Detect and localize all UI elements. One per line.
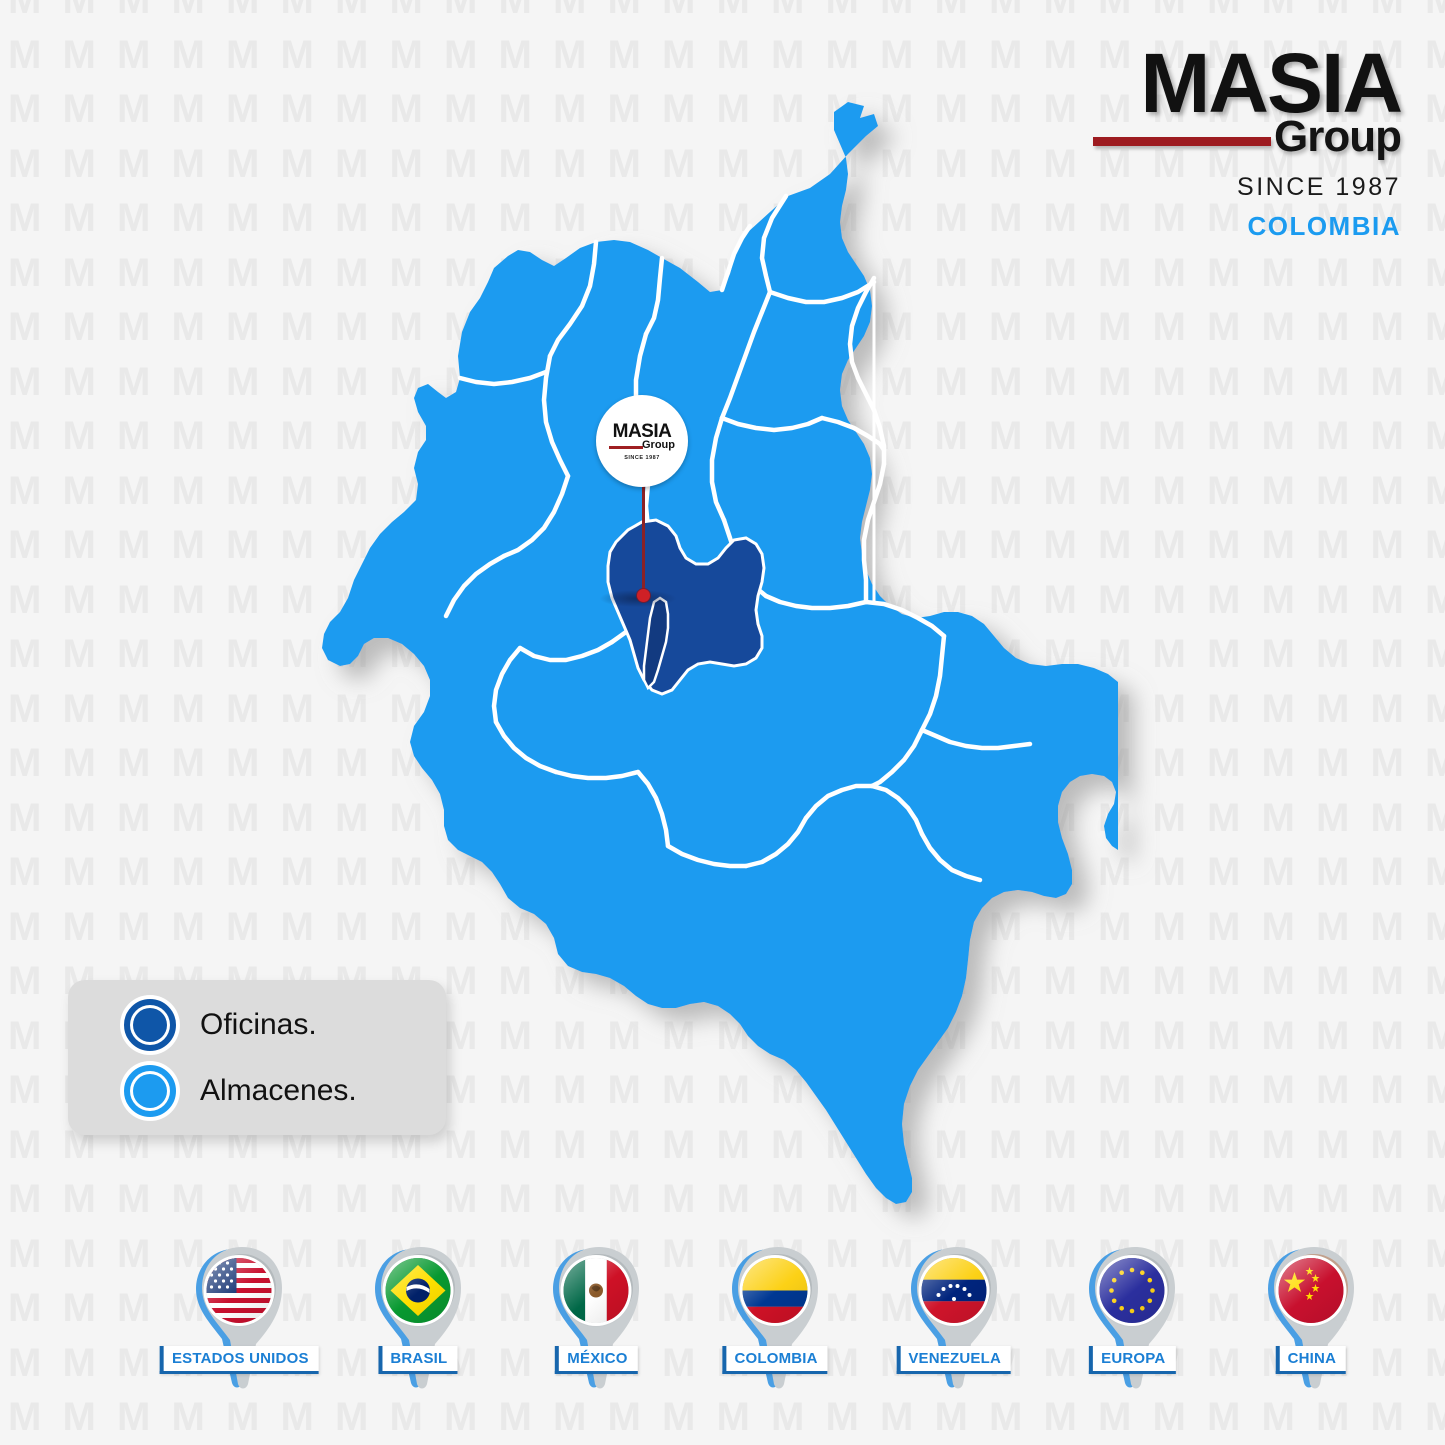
watermark-letter: M <box>1316 307 1349 347</box>
capital-marker-dot <box>637 589 650 602</box>
watermark-letter: M <box>1425 852 1445 892</box>
watermark-letter: M <box>1425 1234 1445 1274</box>
watermark-letter: M <box>1371 307 1404 347</box>
watermark-letter: M <box>1207 743 1240 783</box>
watermark-letter: M <box>1262 907 1295 947</box>
masia-group-logo: MASIA Group SINCE 1987 COLOMBIA <box>1071 44 1401 242</box>
watermark-letter: M <box>335 0 368 20</box>
logo-group-row: Group <box>1071 119 1401 167</box>
watermark-letter: M <box>717 35 750 75</box>
watermark-letter: M <box>1316 1125 1349 1165</box>
watermark-letter: M <box>1207 416 1240 456</box>
watermark-letter: M <box>172 852 205 892</box>
watermark-letter: M <box>1207 307 1240 347</box>
watermark-letter: M <box>1262 798 1295 838</box>
legend-label-oficinas: Oficinas. <box>200 1008 317 1042</box>
watermark-letter: M <box>63 634 96 674</box>
watermark-letter: M <box>226 1179 259 1219</box>
watermark-letter: M <box>1207 852 1240 892</box>
watermark-letter: M <box>63 416 96 456</box>
watermark-letter: M <box>117 416 150 456</box>
watermark-letter: M <box>1316 907 1349 947</box>
watermark-letter: M <box>117 525 150 565</box>
watermark-letter: M <box>117 35 150 75</box>
watermark-letter: M <box>281 471 314 511</box>
watermark-letter: M <box>117 743 150 783</box>
watermark-letter: M <box>281 307 314 347</box>
watermark-letter: M <box>63 144 96 184</box>
watermark-letter: M <box>226 253 259 293</box>
watermark-letter: M <box>117 1397 150 1437</box>
watermark-letter: M <box>1316 525 1349 565</box>
watermark-letter: M <box>226 689 259 729</box>
watermark-letter: M <box>1153 525 1186 565</box>
watermark-letter: M <box>1371 961 1404 1001</box>
watermark-letter: M <box>117 253 150 293</box>
watermark-letter: M <box>117 89 150 129</box>
watermark-letter: M <box>172 307 205 347</box>
watermark-letter: M <box>1153 634 1186 674</box>
pin-label-brasil: BRASIL <box>378 1346 457 1374</box>
watermark-letter: M <box>662 35 695 75</box>
country-pin-europa[interactable]: EUROPA <box>1043 1243 1222 1418</box>
watermark-letter: M <box>1153 253 1186 293</box>
watermark-letter: M <box>1153 907 1186 947</box>
watermark-letter: M <box>1371 525 1404 565</box>
watermark-letter: M <box>390 35 423 75</box>
watermark-letter: M <box>553 35 586 75</box>
callout-group-row: Group <box>609 442 675 452</box>
watermark-letter: M <box>1207 580 1240 620</box>
watermark-letter: M <box>1425 634 1445 674</box>
watermark-letter: M <box>1153 307 1186 347</box>
watermark-letter: M <box>226 743 259 783</box>
watermark-letter: M <box>335 35 368 75</box>
watermark-letter: M <box>8 198 41 238</box>
watermark-letter: M <box>608 0 641 20</box>
watermark-letter: M <box>63 1179 96 1219</box>
flag-mexico-icon <box>564 1258 629 1323</box>
watermark-letter: M <box>1425 525 1445 565</box>
watermark-letter: M <box>1371 1125 1404 1165</box>
watermark-letter: M <box>172 580 205 620</box>
watermark-letter: M <box>1425 35 1445 75</box>
pin-label-china: CHINA <box>1276 1346 1347 1374</box>
watermark-letter: M <box>1425 471 1445 511</box>
watermark-letter: M <box>1371 253 1404 293</box>
watermark-letter: M <box>8 1016 41 1056</box>
watermark-letter: M <box>172 634 205 674</box>
watermark-letter: M <box>1262 471 1295 511</box>
watermark-letter: M <box>1425 1016 1445 1056</box>
pin-label-europa: EUROPA <box>1089 1346 1175 1374</box>
watermark-letter: M <box>1371 634 1404 674</box>
watermark-letter: M <box>117 1179 150 1219</box>
watermark-letter: M <box>226 525 259 565</box>
watermark-letter: M <box>1153 580 1186 620</box>
watermark-letter: M <box>281 798 314 838</box>
watermark-letter: M <box>1316 689 1349 729</box>
watermark-letter: M <box>1316 362 1349 402</box>
country-pin-brasil[interactable]: BRASIL <box>329 1243 508 1418</box>
watermark-letter: M <box>1316 1016 1349 1056</box>
watermark-letter: M <box>8 525 41 565</box>
watermark-letter: M <box>1153 1125 1186 1165</box>
flag-venezuela-icon <box>921 1258 986 1323</box>
watermark-letter: M <box>1262 852 1295 892</box>
watermark-letter: M <box>1207 907 1240 947</box>
watermark-letter: M <box>1425 198 1445 238</box>
watermark-letter: M <box>1153 1179 1186 1219</box>
watermark-letter: M <box>1207 1179 1240 1219</box>
watermark-letter: M <box>1153 416 1186 456</box>
watermark-letter: M <box>172 198 205 238</box>
watermark-letter: M <box>1425 580 1445 620</box>
watermark-letter: M <box>8 961 41 1001</box>
watermark-letter: M <box>63 1343 96 1383</box>
watermark-letter: M <box>117 580 150 620</box>
watermark-letter: M <box>1262 307 1295 347</box>
watermark-letter: M <box>281 253 314 293</box>
pin-label-venezuela: VENEZUELA <box>896 1346 1011 1374</box>
watermark-letter: M <box>1207 1070 1240 1110</box>
watermark-letter: M <box>8 1397 41 1437</box>
watermark-letter: M <box>226 362 259 402</box>
watermark-letter: M <box>281 1179 314 1219</box>
watermark-letter: M <box>226 471 259 511</box>
watermark-letter: M <box>63 471 96 511</box>
pin-label-colombia: COLOMBIA <box>722 1346 827 1374</box>
watermark-letter: M <box>1371 1016 1404 1056</box>
watermark-letter: M <box>63 1397 96 1437</box>
watermark-letter: M <box>63 907 96 947</box>
logo-country-text: COLOMBIA <box>1071 211 1401 242</box>
watermark-letter: M <box>8 416 41 456</box>
watermark-letter: M <box>1153 1016 1186 1056</box>
watermark-letter: M <box>117 907 150 947</box>
watermark-letter: M <box>1207 634 1240 674</box>
watermark-letter: M <box>989 0 1022 20</box>
flag-colombia-icon <box>743 1258 808 1323</box>
map-legend: Oficinas. Almacenes. <box>68 980 446 1135</box>
watermark-letter: M <box>63 0 96 20</box>
watermark-letter: M <box>390 0 423 20</box>
flag-brazil-icon <box>385 1258 450 1323</box>
watermark-letter: M <box>281 416 314 456</box>
watermark-letter: M <box>226 144 259 184</box>
watermark-letter: M <box>1044 0 1077 20</box>
watermark-letter: M <box>117 1288 150 1328</box>
watermark-letter: M <box>63 743 96 783</box>
watermark-letter: M <box>1153 0 1186 20</box>
watermark-letter: M <box>172 743 205 783</box>
watermark-letter: M <box>281 362 314 402</box>
callout-red-bar <box>609 446 643 449</box>
legend-item-almacenes[interactable]: Almacenes. <box>68 1058 446 1124</box>
watermark-letter: M <box>1316 1070 1349 1110</box>
legend-marker-almacenes-icon <box>124 1065 176 1117</box>
flag-europe-icon <box>1100 1258 1165 1323</box>
watermark-letter: M <box>281 580 314 620</box>
legend-label-almacenes: Almacenes. <box>200 1074 357 1108</box>
watermark-letter: M <box>989 35 1022 75</box>
watermark-letter: M <box>172 253 205 293</box>
watermark-letter: M <box>1153 743 1186 783</box>
watermark-letter: M <box>172 0 205 20</box>
watermark-letter: M <box>8 634 41 674</box>
watermark-letter: M <box>880 0 913 20</box>
pin-label-mexico: MÉXICO <box>555 1346 637 1374</box>
watermark-letter: M <box>172 362 205 402</box>
watermark-letter: M <box>117 471 150 511</box>
watermark-letter: M <box>1425 307 1445 347</box>
watermark-letter: M <box>8 907 41 947</box>
watermark-letter: M <box>8 1343 41 1383</box>
watermark-letter: M <box>117 1343 150 1383</box>
watermark-letter: M <box>826 0 859 20</box>
watermark-letter: M <box>63 580 96 620</box>
watermark-letter: M <box>226 198 259 238</box>
watermark-letter: M <box>1207 961 1240 1001</box>
watermark-letter: M <box>8 1288 41 1328</box>
watermark-letter: M <box>63 253 96 293</box>
watermark-letter: M <box>1316 253 1349 293</box>
callout-masia-text: MASIA <box>613 422 672 441</box>
logo-red-bar <box>1093 137 1271 146</box>
callout-since-text: SINCE 1987 <box>624 455 660 461</box>
watermark-letter: M <box>281 634 314 674</box>
watermark-letter: M <box>117 634 150 674</box>
legend-item-oficinas[interactable]: Oficinas. <box>68 992 446 1058</box>
logo-since-text: SINCE 1987 <box>1071 173 1401 202</box>
watermark-letter: M <box>444 0 477 20</box>
watermark-letter: M <box>63 1288 96 1328</box>
watermark-letter: M <box>8 689 41 729</box>
watermark-letter: M <box>1371 689 1404 729</box>
watermark-letter: M <box>226 907 259 947</box>
watermark-letter: M <box>1207 362 1240 402</box>
watermark-letter: M <box>826 35 859 75</box>
watermark-letter: M <box>1425 1125 1445 1165</box>
watermark-letter: M <box>8 1179 41 1219</box>
watermark-letter: M <box>1425 907 1445 947</box>
watermark-letter: M <box>1425 89 1445 129</box>
watermark-letter: M <box>1425 689 1445 729</box>
watermark-letter: M <box>1425 1397 1445 1437</box>
watermark-letter: M <box>608 35 641 75</box>
watermark-letter: M <box>172 471 205 511</box>
watermark-letter: M <box>8 1234 41 1274</box>
watermark-letter: M <box>1207 0 1240 20</box>
watermark-letter: M <box>1262 1179 1295 1219</box>
watermark-letter: M <box>1316 743 1349 783</box>
watermark-letter: M <box>1316 416 1349 456</box>
watermark-letter: M <box>226 634 259 674</box>
watermark-letter: M <box>1371 362 1404 402</box>
watermark-letter: M <box>226 580 259 620</box>
watermark-letter: M <box>8 580 41 620</box>
watermark-letter: M <box>1207 1016 1240 1056</box>
watermark-letter: M <box>1371 743 1404 783</box>
watermark-letter: M <box>281 525 314 565</box>
watermark-letter: M <box>1425 798 1445 838</box>
watermark-letter: M <box>172 798 205 838</box>
watermark-letter: M <box>1262 1016 1295 1056</box>
country-pin-mexico[interactable]: MÉXICO <box>507 1243 686 1418</box>
callout-group-text: Group <box>642 440 675 451</box>
watermark-letter: M <box>172 525 205 565</box>
watermark-letter: M <box>1153 1070 1186 1110</box>
watermark-letter: M <box>1425 362 1445 402</box>
watermark-letter: M <box>8 89 41 129</box>
watermark-letter: M <box>1425 1179 1445 1219</box>
watermark-letter: M <box>63 689 96 729</box>
flag-usa-icon <box>207 1258 272 1323</box>
watermark-letter: M <box>1153 798 1186 838</box>
watermark-letter: M <box>1207 1125 1240 1165</box>
watermark-letter: M <box>1262 1125 1295 1165</box>
watermark-letter: M <box>1371 580 1404 620</box>
watermark-letter: M <box>117 852 150 892</box>
watermark-letter: M <box>63 798 96 838</box>
country-pin-china[interactable]: CHINA <box>1222 1243 1401 1418</box>
watermark-letter: M <box>8 852 41 892</box>
watermark-letter: M <box>1425 743 1445 783</box>
pin-label-estados-unidos: ESTADOS UNIDOS <box>160 1346 319 1374</box>
watermark-letter: M <box>1316 634 1349 674</box>
flag-china-icon <box>1278 1258 1343 1323</box>
watermark-letter: M <box>553 0 586 20</box>
watermark-letter: M <box>117 0 150 20</box>
watermark-letter: M <box>1425 416 1445 456</box>
watermark-letter: M <box>281 35 314 75</box>
watermark-letter: M <box>172 1179 205 1219</box>
watermark-letter: M <box>1262 743 1295 783</box>
watermark-letter: M <box>1207 689 1240 729</box>
watermark-letter: M <box>444 35 477 75</box>
watermark-letter: M <box>281 198 314 238</box>
watermark-letter: M <box>8 1125 41 1165</box>
watermark-letter: M <box>172 416 205 456</box>
watermark-letter: M <box>1153 471 1186 511</box>
watermark-letter: M <box>172 144 205 184</box>
watermark-letter: M <box>226 852 259 892</box>
watermark-letter: M <box>1207 471 1240 511</box>
watermark-letter: M <box>1207 253 1240 293</box>
watermark-letter: M <box>8 471 41 511</box>
watermark-letter: M <box>1207 798 1240 838</box>
watermark-letter: M <box>935 35 968 75</box>
watermark-letter: M <box>1371 1070 1404 1110</box>
watermark-letter: M <box>1262 0 1295 20</box>
watermark-letter: M <box>662 0 695 20</box>
watermark-letter: M <box>226 307 259 347</box>
watermark-letter: M <box>8 743 41 783</box>
watermark-letter: M <box>1316 580 1349 620</box>
watermark-letter: M <box>8 362 41 402</box>
watermark-letter: M <box>1262 634 1295 674</box>
watermark-letter: M <box>8 798 41 838</box>
legend-marker-oficinas-icon <box>124 999 176 1051</box>
watermark-letter: M <box>281 144 314 184</box>
logo-group-text: Group <box>1274 115 1401 159</box>
watermark-letter: M <box>117 144 150 184</box>
watermark-letter: M <box>880 35 913 75</box>
watermark-letter: M <box>172 689 205 729</box>
watermark-letter: M <box>8 253 41 293</box>
watermark-letter: M <box>281 689 314 729</box>
watermark-letter: M <box>1207 525 1240 565</box>
watermark-letter: M <box>117 198 150 238</box>
watermark-letter: M <box>1316 1179 1349 1219</box>
watermark-letter: M <box>1153 961 1186 1001</box>
watermark-letter: M <box>1098 0 1131 20</box>
watermark-letter: M <box>771 0 804 20</box>
watermark-letter: M <box>172 907 205 947</box>
watermark-letter: M <box>1262 580 1295 620</box>
watermark-letter: M <box>117 1234 150 1274</box>
watermark-letter: M <box>63 35 96 75</box>
watermark-letter: M <box>63 525 96 565</box>
watermark-letter: M <box>1316 0 1349 20</box>
watermark-letter: M <box>1262 525 1295 565</box>
callout-stem <box>642 478 645 596</box>
watermark-letter: M <box>1425 1070 1445 1110</box>
watermark-letter: M <box>117 689 150 729</box>
watermark-letter: M <box>172 89 205 129</box>
watermark-letter: M <box>1371 852 1404 892</box>
watermark-letter: M <box>1316 852 1349 892</box>
watermark-letter: M <box>117 798 150 838</box>
watermark-letter: M <box>8 35 41 75</box>
watermark-letter: M <box>499 35 532 75</box>
watermark-letter: M <box>63 852 96 892</box>
watermark-letter: M <box>226 0 259 20</box>
watermark-letter: M <box>63 362 96 402</box>
watermark-letter: M <box>63 307 96 347</box>
watermark-letter: M <box>499 0 532 20</box>
watermark-letter: M <box>172 35 205 75</box>
watermark-letter: M <box>1425 961 1445 1001</box>
watermark-letter: M <box>117 362 150 402</box>
watermark-letter: M <box>8 0 41 20</box>
country-pin-row: ESTADOS UNIDOS <box>150 1243 1400 1418</box>
watermark-letter: M <box>281 0 314 20</box>
country-pin-estados-unidos[interactable]: ESTADOS UNIDOS <box>150 1243 329 1418</box>
watermark-letter: M <box>1262 253 1295 293</box>
watermark-letter: M <box>1153 689 1186 729</box>
watermark-letter: M <box>1316 798 1349 838</box>
country-pin-venezuela[interactable]: VENEZUELA <box>864 1243 1043 1418</box>
watermark-letter: M <box>63 1234 96 1274</box>
watermark-letter: M <box>63 198 96 238</box>
watermark-letter: M <box>1371 416 1404 456</box>
watermark-letter: M <box>1262 689 1295 729</box>
callout-bubble: MASIA Group SINCE 1987 <box>596 395 688 487</box>
country-pin-colombia[interactable]: COLOMBIA <box>686 1243 865 1418</box>
watermark-letter: M <box>281 852 314 892</box>
watermark-letter: M <box>8 1070 41 1110</box>
watermark-letter: M <box>1371 798 1404 838</box>
watermark-letter: M <box>8 144 41 184</box>
watermark-letter: M <box>717 0 750 20</box>
watermark-letter: M <box>226 89 259 129</box>
watermark-letter: M <box>8 307 41 347</box>
masia-map-callout[interactable]: MASIA Group SINCE 1987 <box>596 395 688 487</box>
watermark-letter: M <box>1153 852 1186 892</box>
watermark-letter: M <box>1425 1288 1445 1328</box>
watermark-letter: M <box>1425 144 1445 184</box>
